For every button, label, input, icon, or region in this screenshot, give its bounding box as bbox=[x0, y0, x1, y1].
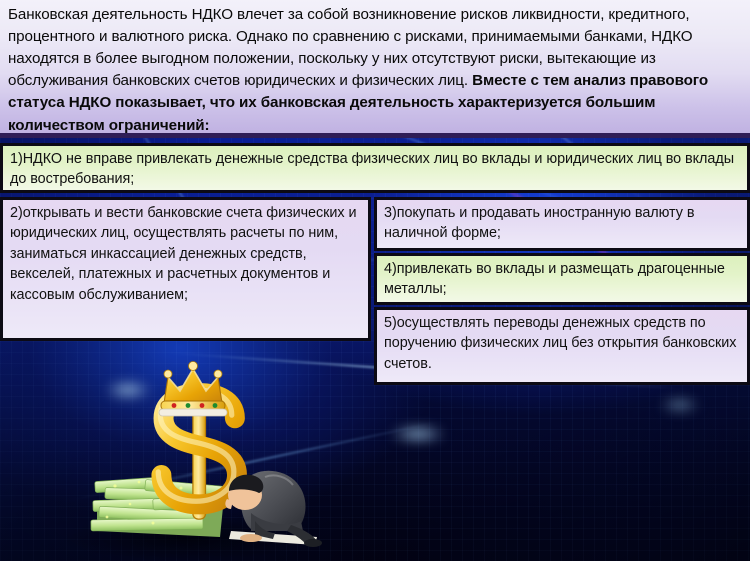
header-paragraph: Банковская деятельность НДКО влечет за с… bbox=[0, 0, 750, 137]
dollar-sign bbox=[158, 387, 237, 519]
restriction-text-4: 4)привлекать во вклады и размещать драго… bbox=[377, 256, 747, 300]
restriction-text-1: 1)НДКО не вправе привлекать денежные сре… bbox=[3, 146, 747, 190]
header-text-block: Банковская деятельность НДКО влечет за с… bbox=[0, 0, 750, 138]
restriction-box-3: 3)покупать и продавать иностранную валют… bbox=[374, 197, 750, 251]
restriction-text-3: 3)покупать и продавать иностранную валют… bbox=[377, 200, 747, 244]
restriction-box-2: 2)открывать и вести банковские счета физ… bbox=[0, 197, 371, 341]
banknote-stack bbox=[91, 476, 231, 537]
restriction-text-2: 2)открывать и вести банковские счета физ… bbox=[3, 200, 368, 305]
restriction-box-4: 4)привлекать во вклады и размещать драго… bbox=[374, 253, 750, 305]
crown bbox=[159, 362, 227, 417]
restriction-box-5: 5)осуществлять переводы денежных средств… bbox=[374, 307, 750, 385]
restriction-text-5: 5)осуществлять переводы денежных средств… bbox=[377, 310, 747, 374]
slide-canvas: Банковская деятельность НДКО влечет за с… bbox=[0, 0, 750, 561]
bowing-man bbox=[225, 471, 322, 547]
money-illustration bbox=[35, 355, 375, 561]
restriction-box-1: 1)НДКО не вправе привлекать денежные сре… bbox=[0, 143, 750, 193]
